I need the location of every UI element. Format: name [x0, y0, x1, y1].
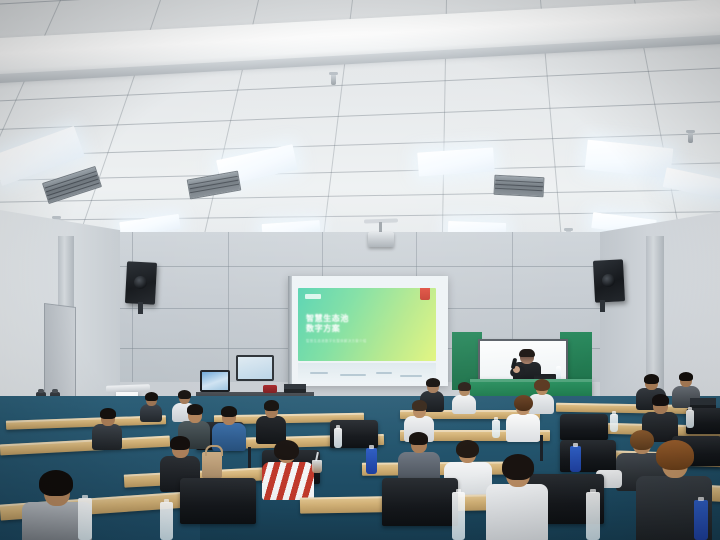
attendee-hair: [426, 378, 440, 387]
slide-ribbon-badge: [420, 288, 430, 300]
attendee-torso: [486, 484, 548, 540]
classroom-photo: 智慧生态池 数字方案 智慧生态池数字化整体解决方案介绍 智慧生态: [0, 0, 720, 540]
attendee: [92, 408, 122, 448]
blue-beverage-bottle: [694, 500, 708, 540]
chair: [382, 478, 458, 526]
water-bottle: [452, 492, 465, 540]
attendee-torso: [140, 404, 162, 422]
attendee-hair: [221, 406, 237, 417]
wall-display: [236, 355, 274, 381]
chair: [180, 478, 256, 524]
slide-subtitle: 智慧生态池数字化整体解决方案介绍: [306, 338, 367, 343]
projection-screen: 智慧生态池 数字方案 智慧生态池数字化整体解决方案介绍: [288, 276, 448, 386]
attendee-hair: [264, 400, 279, 411]
attendee: [452, 382, 476, 412]
water-bottle: [334, 428, 342, 448]
attendee-hair: [679, 372, 693, 381]
screen-lower-area: [298, 363, 436, 383]
right-wall-speaker: [593, 259, 625, 303]
presenter-hair: [519, 349, 535, 357]
attendee-hair: [502, 454, 534, 480]
attendee-torso: [92, 424, 122, 450]
attendee-hair: [39, 470, 73, 496]
side-door[interactable]: [44, 303, 76, 404]
water-bottle: [160, 502, 173, 540]
blue-beverage-bottle: [366, 448, 377, 474]
speaker-mount: [138, 302, 143, 314]
presenter-water-bottle: [556, 366, 561, 380]
attendee-hair: [652, 394, 669, 406]
attendee-torso: [452, 395, 476, 414]
attendee-hair: [656, 440, 694, 470]
attendee-hair: [456, 440, 479, 458]
sprinkler-head: [688, 132, 693, 143]
air-vent: [494, 175, 545, 198]
attendee-hair: [170, 436, 190, 450]
speaker-mount: [600, 300, 605, 312]
attendee-hair: [409, 432, 428, 445]
water-bottle: [492, 420, 500, 438]
sprinkler-head: [331, 74, 336, 85]
water-bottle: [586, 492, 600, 540]
ceiling-projector: [368, 232, 394, 247]
attendee-hair: [458, 382, 471, 391]
attendee-hair: [187, 404, 203, 415]
attendee: [398, 432, 440, 484]
attendee-hair: [644, 374, 659, 384]
chair: [560, 440, 616, 472]
water-bottle: [686, 410, 694, 428]
iced-coffee-cup: [312, 460, 322, 473]
attendee-torso: [506, 414, 540, 442]
presentation-slide: 智慧生态池 数字方案 智慧生态池数字化整体解决方案介绍: [298, 288, 436, 361]
water-bottle: [78, 498, 92, 540]
attendee: [256, 400, 286, 442]
chair: [560, 414, 608, 440]
attendee: [506, 396, 540, 440]
slide-title-line1: 智慧生态池: [306, 314, 349, 324]
attendee-hair: [514, 395, 533, 411]
control-monitor[interactable]: [200, 370, 230, 392]
striped-shirt-attendee: [262, 440, 314, 498]
attendee-blue-shirt: [212, 406, 246, 448]
attendee-hair: [100, 408, 116, 419]
slide-logo-icon: [305, 294, 321, 299]
attendee-hair: [534, 379, 550, 391]
attendee-hair: [145, 392, 158, 401]
slide-title-line2: 数字方案: [306, 324, 349, 334]
attendee-torso: [262, 462, 314, 500]
blue-beverage-bottle: [570, 446, 581, 472]
control-desk-laptop: [284, 384, 306, 393]
slide-title: 智慧生态池 数字方案: [306, 314, 349, 334]
left-wall-speaker: [125, 261, 157, 305]
red-equipment-case: [263, 385, 277, 393]
attendee: [486, 454, 548, 540]
tote-bag: [202, 452, 222, 478]
attendee: [140, 392, 162, 420]
attendee-hair: [412, 400, 427, 411]
attendee-hair: [274, 440, 299, 460]
attendee-hair: [178, 390, 191, 399]
